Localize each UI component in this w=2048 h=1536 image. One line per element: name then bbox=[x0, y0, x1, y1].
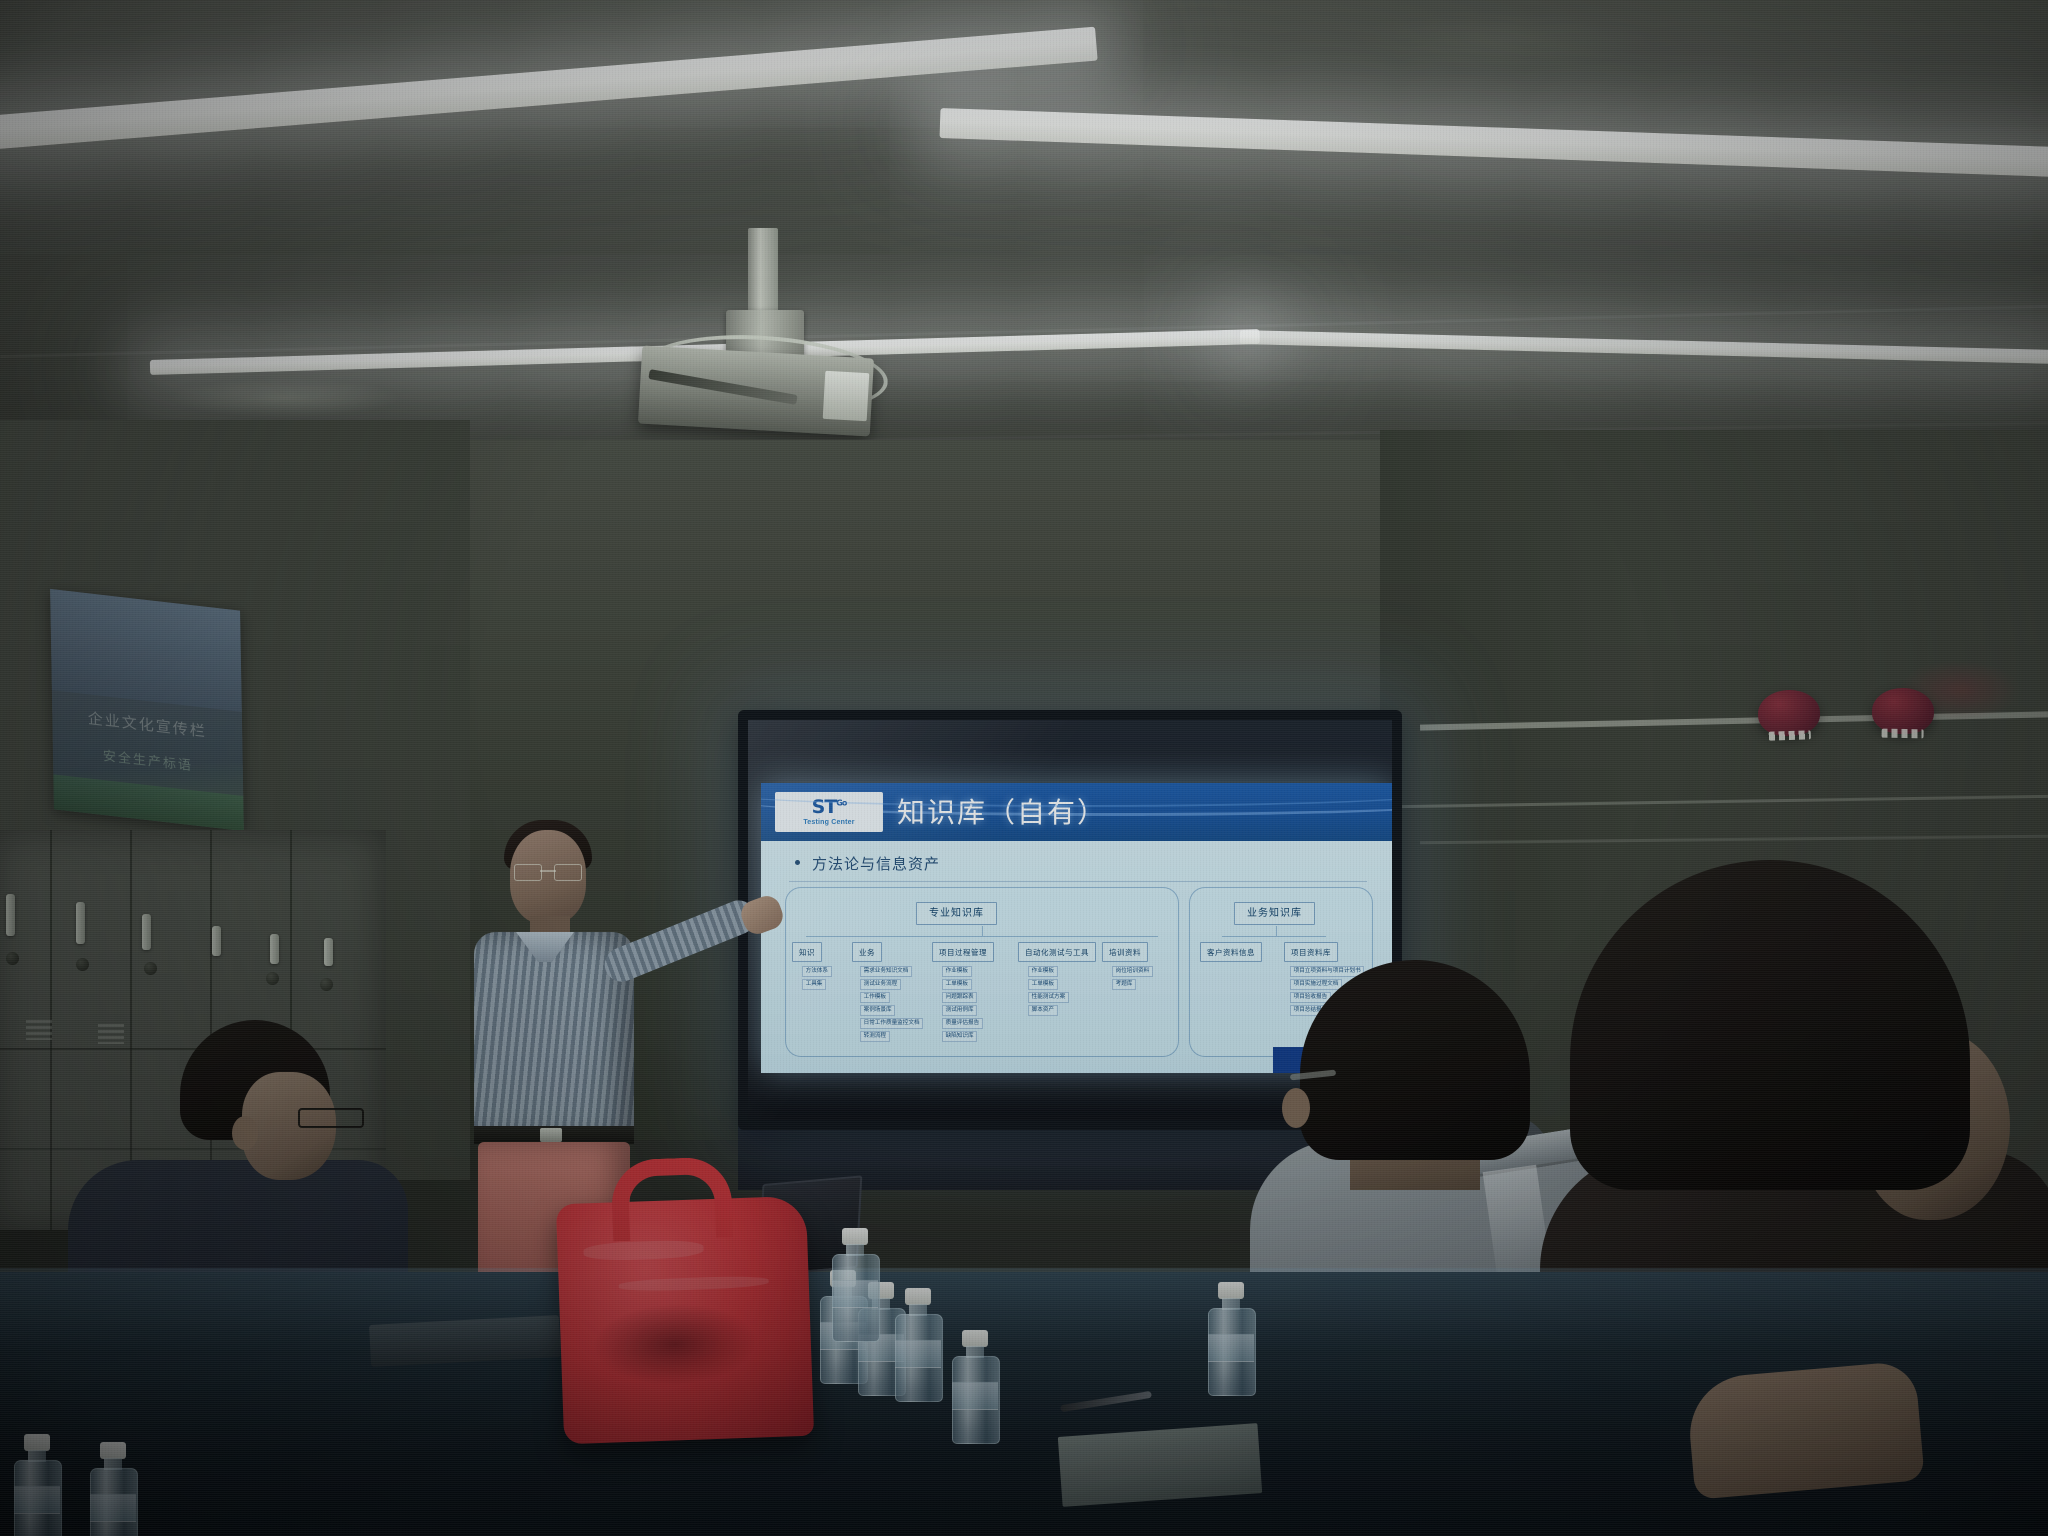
bottle-cap bbox=[100, 1442, 126, 1459]
list-item: 脚本资产 bbox=[1028, 1005, 1058, 1016]
list-item: 工单模板 bbox=[942, 979, 972, 990]
audience-center-ear bbox=[1282, 1088, 1310, 1128]
bottle-cap bbox=[905, 1288, 931, 1305]
bottle-cap bbox=[962, 1330, 988, 1347]
list-item: 性能测试方案 bbox=[1028, 992, 1069, 1003]
list-item: 问题跟踪表 bbox=[942, 992, 977, 1003]
list-item: 工作模板 bbox=[860, 992, 890, 1003]
knowledge-panel-professional: 专业知识库 知识 业务 项目过程管理 自动化测试与工具 培训资料 方法体系 工具… bbox=[785, 887, 1179, 1057]
logo-mark-sup: Go bbox=[836, 799, 846, 808]
list-item: 作业模板 bbox=[942, 966, 972, 977]
locker-handle-5[interactable] bbox=[270, 934, 279, 964]
locker-lock-3[interactable] bbox=[144, 962, 157, 975]
water-bottle-7[interactable] bbox=[14, 1434, 80, 1536]
meeting-room-photo: 企业文化宣传栏 安全生产标语 STGo bbox=[0, 0, 2048, 1536]
bottle-label bbox=[952, 1382, 998, 1410]
wall-poster: 企业文化宣传栏 安全生产标语 bbox=[50, 589, 244, 831]
panel-a-col-4-items: 岗位培训资料 考题库 bbox=[1112, 966, 1153, 992]
glasses-icon-left-audience bbox=[298, 1108, 364, 1128]
poster-image-area bbox=[50, 589, 242, 712]
panel-a-col-2-header: 项目过程管理 bbox=[932, 942, 994, 962]
list-item: 岗位培训资料 bbox=[1112, 966, 1153, 977]
panel-a-col-0-header: 知识 bbox=[792, 942, 822, 962]
bottle-label bbox=[895, 1340, 941, 1368]
panel-b-root-node: 业务知识库 bbox=[1234, 902, 1315, 925]
red-ornament-icon-1 bbox=[1757, 689, 1821, 737]
locker-lock-1[interactable] bbox=[6, 952, 19, 965]
panel-b-col-1-header: 项目资料库 bbox=[1284, 942, 1338, 962]
list-item: 缺陷知识库 bbox=[942, 1031, 977, 1042]
list-item: 质量评估报告 bbox=[942, 1018, 983, 1029]
bottle-cap bbox=[842, 1228, 868, 1245]
panel-a-col-3-header: 自动化测试与工具 bbox=[1018, 942, 1096, 962]
locker-handle-6[interactable] bbox=[324, 938, 333, 966]
bag-crease-2 bbox=[619, 1275, 769, 1292]
panel-a-col-2-items: 作业模板 工单模板 问题跟踪表 测试用例库 质量评估报告 缺陷知识库 bbox=[942, 966, 983, 1044]
logo-subtitle: Testing Center bbox=[803, 819, 854, 826]
bottle-label bbox=[14, 1486, 60, 1514]
panel-b-root-drop bbox=[1276, 926, 1277, 936]
panel-a-col-1-header: 业务 bbox=[852, 942, 882, 962]
bottle-label bbox=[1208, 1334, 1254, 1362]
panel-a-col-4-header: 培训资料 bbox=[1102, 942, 1148, 962]
audience-right-hair bbox=[1570, 860, 1970, 1190]
slide-title: 知识库（自有） bbox=[897, 791, 1107, 831]
poster-line-1: 企业文化宣传栏 bbox=[52, 704, 242, 747]
panel-b-col-0-header: 客户资料信息 bbox=[1200, 942, 1262, 962]
papers-on-table[interactable] bbox=[1058, 1423, 1262, 1507]
list-item: 转测流程 bbox=[860, 1031, 890, 1042]
logo-mark-text: ST bbox=[812, 796, 837, 818]
water-bottle-3[interactable] bbox=[832, 1228, 878, 1352]
audience-center-hair bbox=[1300, 960, 1530, 1160]
locker-lock-5[interactable] bbox=[320, 978, 333, 991]
locker-handle-4[interactable] bbox=[212, 926, 221, 956]
company-logo: STGo Testing Center bbox=[775, 792, 883, 832]
water-bottle-4[interactable] bbox=[895, 1288, 941, 1400]
locker-handle-3[interactable] bbox=[142, 914, 151, 950]
list-item: 案例场景库 bbox=[860, 1005, 895, 1016]
panel-b-bus-line bbox=[1222, 936, 1326, 937]
slide-header-bar: STGo Testing Center 知识库（自有） bbox=[761, 783, 1393, 841]
ceiling-stain-2 bbox=[1350, 10, 1650, 70]
panel-a-col-3-items: 作业模板 工单模板 性能测试方案 脚本资产 bbox=[1028, 966, 1069, 1018]
red-ornament-icon-2 bbox=[1872, 687, 1935, 734]
bullet-dot-icon bbox=[795, 860, 800, 865]
list-item: 测试业务流程 bbox=[860, 979, 901, 990]
panel-a-root-node: 专业知识库 bbox=[916, 902, 997, 925]
projector-mount-pole bbox=[748, 228, 778, 320]
list-item: 工具集 bbox=[802, 979, 826, 990]
glasses-lens-right bbox=[554, 864, 582, 881]
water-bottle-5[interactable] bbox=[952, 1330, 1008, 1462]
panel-a-root-drop bbox=[982, 926, 983, 936]
locker-lock-4[interactable] bbox=[266, 972, 279, 985]
locker-lock-2[interactable] bbox=[76, 958, 89, 971]
water-bottle-8[interactable] bbox=[90, 1442, 156, 1536]
bottle-cap bbox=[1218, 1282, 1244, 1299]
list-item: 需求业务知识文档 bbox=[860, 966, 912, 977]
list-item: 方法体系 bbox=[802, 966, 832, 977]
list-item: 考题库 bbox=[1112, 979, 1136, 990]
list-item: 日常工作质量监控文档 bbox=[860, 1018, 923, 1029]
bag-shadow bbox=[593, 1302, 756, 1388]
list-item: 测试用例库 bbox=[942, 1005, 977, 1016]
ceiling-stain bbox=[170, 378, 400, 418]
bottle-label bbox=[90, 1494, 136, 1522]
slide-bullet-line: 方法论与信息资产 bbox=[795, 853, 940, 874]
bottle-label bbox=[832, 1280, 878, 1308]
list-item: 作业模板 bbox=[1028, 966, 1058, 977]
bottle-cap bbox=[24, 1434, 50, 1451]
water-bottle-6[interactable] bbox=[1208, 1282, 1260, 1406]
poster-line-2: 安全生产标语 bbox=[53, 739, 243, 780]
panel-a-col-1-items: 需求业务知识文档 测试业务流程 工作模板 案例场景库 日常工作质量监控文档 转测… bbox=[860, 966, 923, 1044]
panel-a-col-0-items: 方法体系 工具集 bbox=[802, 966, 832, 992]
audience-left-ear bbox=[232, 1116, 258, 1150]
list-item: 工单模板 bbox=[1028, 979, 1058, 990]
slide-bullet-text: 方法论与信息资产 bbox=[812, 855, 940, 873]
locker-handle-2[interactable] bbox=[76, 902, 85, 944]
bag-crease-1 bbox=[583, 1239, 704, 1261]
locker-handle-1[interactable] bbox=[6, 894, 15, 936]
glasses-lens-left bbox=[514, 864, 542, 881]
panel-a-bus-line bbox=[806, 936, 1158, 937]
projector-lens bbox=[823, 371, 870, 421]
slide-divider bbox=[789, 881, 1367, 882]
red-plastic-bag[interactable] bbox=[556, 1196, 814, 1445]
glasses-icon bbox=[514, 864, 582, 879]
logo-mark: STGo bbox=[812, 798, 847, 817]
audience-right-hands bbox=[1685, 1360, 1925, 1500]
